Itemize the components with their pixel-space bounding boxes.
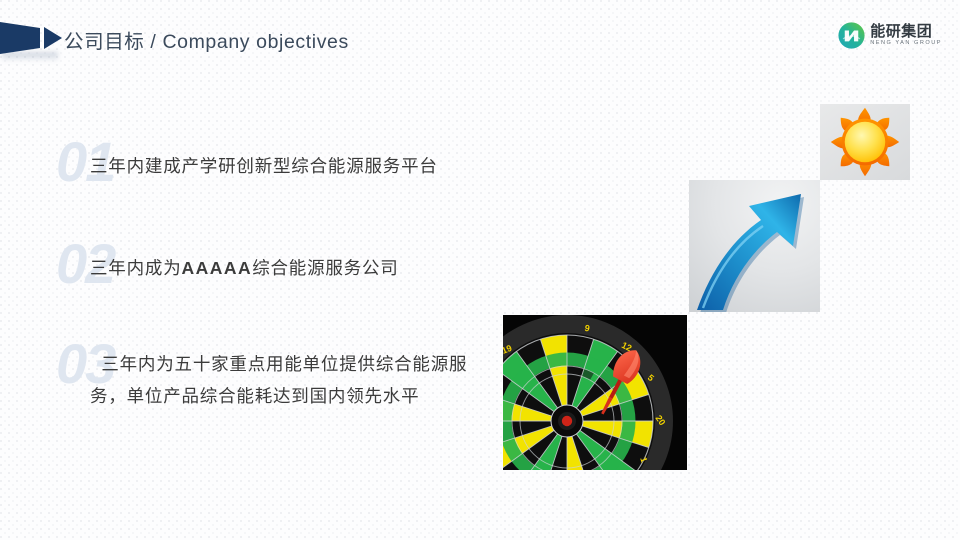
objective-text-02: 三年内成为AAAAA综合能源服务公司	[90, 252, 399, 284]
banner-main-shape	[0, 22, 40, 54]
growth-arrow-photo	[689, 180, 820, 312]
page-title: 公司目标 / Company objectives	[64, 25, 349, 54]
objective-text-01: 三年内建成产学研创新型综合能源服务平台	[90, 150, 438, 182]
navy-arrow-banner-icon	[0, 22, 62, 54]
objective-text-02-before: 三年内成为	[90, 258, 182, 278]
logo-name-en: NENG YAN GROUP	[870, 41, 942, 47]
logo-text-block: 能研集团 NENG YAN GROUP	[870, 24, 942, 47]
slide-header: 公司目标 / Company objectives 能研集团 NENG YAN …	[0, 0, 960, 76]
banner-shadow	[2, 52, 58, 62]
dartboard-icon: 9 12 5 20 1 18 4 7 19	[503, 315, 687, 470]
dartboard-photo: 9 12 5 20 1 18 4 7 19	[503, 315, 687, 470]
objective-text-02-after: 综合能源服务公司	[252, 258, 398, 278]
objective-text-03: 三年内为五十家重点用能单位提供综合能源服务，单位产品综合能耗达到国内领先水平	[90, 348, 486, 412]
objective-text-02-emphasis: AAAAA	[182, 258, 253, 278]
slide-canvas: 公司目标 / Company objectives 能研集团 NENG YAN …	[0, 0, 960, 540]
logo-name-cn: 能研集团	[870, 24, 942, 39]
sun-photo	[820, 104, 910, 180]
company-logo: 能研集团 NENG YAN GROUP	[838, 22, 942, 49]
sun-icon	[820, 104, 910, 180]
logo-mark-icon	[838, 22, 865, 49]
banner-tip-shape	[44, 27, 62, 49]
upward-arrow-icon	[689, 180, 820, 312]
